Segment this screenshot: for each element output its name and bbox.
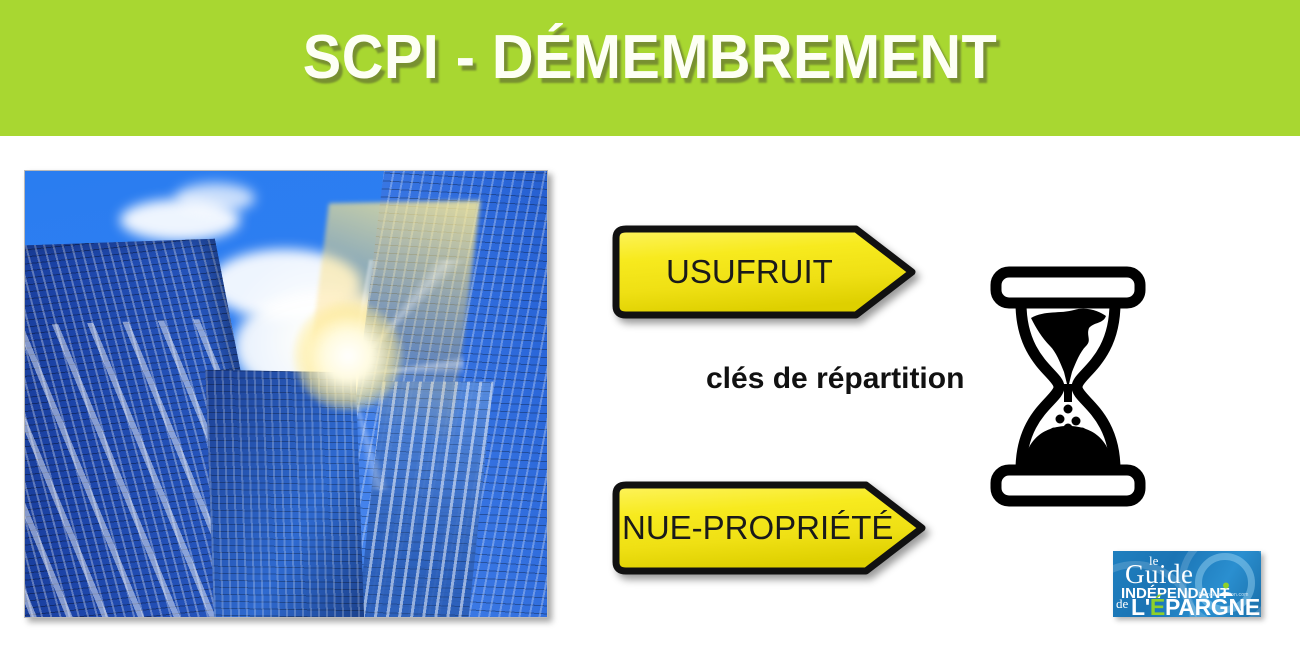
logo-epargne-prefix: L' bbox=[1131, 594, 1150, 617]
logo-mark-icon bbox=[1217, 581, 1235, 599]
hourglass-icon bbox=[990, 266, 1146, 508]
sun-flare-icon bbox=[293, 301, 403, 411]
cloud-shape bbox=[175, 183, 255, 213]
caption-cles-de-repartition: clés de répartition bbox=[706, 362, 964, 396]
logo-epargne-accent: É bbox=[1150, 594, 1165, 617]
header-band: SCPI - DÉMEMBREMENT bbox=[0, 0, 1300, 136]
sign-usufruit[interactable]: USUFRUIT bbox=[604, 224, 920, 320]
infographic-page: SCPI - DÉMEMBREMENT bbox=[0, 0, 1300, 650]
page-title: SCPI - DÉMEMBREMENT bbox=[46, 22, 1255, 93]
skyscraper-photo bbox=[24, 170, 548, 618]
sign-nue-propriete-label: NUE-PROPRIÉTÉ bbox=[622, 480, 893, 576]
sign-nue-propriete[interactable]: NUE-PROPRIÉTÉ bbox=[604, 480, 930, 576]
publisher-logo[interactable]: le Guide INDÉPENDANT de L'ÉPARGNE France… bbox=[1113, 551, 1261, 617]
logo-de-text: de bbox=[1116, 596, 1128, 612]
sign-usufruit-label: USUFRUIT bbox=[666, 224, 833, 320]
